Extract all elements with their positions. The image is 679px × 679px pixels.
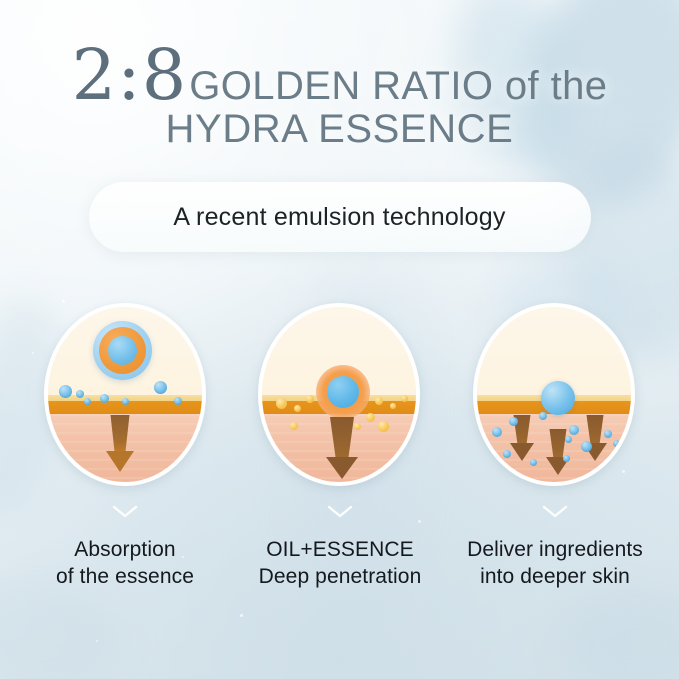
caption-line-1: Deliver ingredients <box>445 536 665 563</box>
ingredient-particle <box>565 436 572 443</box>
illustration-panel-absorption <box>44 303 206 486</box>
arrow-head <box>510 443 534 461</box>
ingredient-particle <box>563 455 570 462</box>
arrow-shaft <box>587 415 604 445</box>
oil-particle <box>276 398 287 409</box>
caption-oil-essence: OIL+ESSENCE Deep penetration <box>230 505 450 591</box>
oil-particle <box>378 421 389 432</box>
oil-essence-droplet <box>316 365 370 419</box>
background-blur-shape <box>0 579 120 679</box>
oil-particle <box>375 397 383 405</box>
caption-line-1: Absorption <box>15 536 235 563</box>
golden-ratio-number: 2:8 <box>72 42 188 109</box>
emulsion-capsule <box>93 321 152 380</box>
illustration-panel-deliver <box>473 303 635 486</box>
essence-droplet <box>154 381 167 394</box>
headline-line-1: 2:8 GOLDEN RATIO of the <box>0 42 679 109</box>
ingredient-droplet <box>541 381 575 415</box>
essence-droplet <box>100 394 109 403</box>
poster-canvas: 2:8 GOLDEN RATIO of the HYDRA ESSENCE A … <box>0 0 679 679</box>
caption-line-2: into deeper skin <box>445 563 665 590</box>
ingredient-particle <box>613 440 620 447</box>
headline-line-1-text: GOLDEN RATIO of the <box>189 64 607 109</box>
ingredient-particle <box>569 425 579 435</box>
penetration-arrow <box>100 415 140 472</box>
droplet-core <box>327 376 359 408</box>
arrow-head <box>106 451 134 472</box>
essence-droplet <box>84 398 91 405</box>
essence-droplet <box>174 397 182 405</box>
caption-absorption: Absorption of the essence <box>15 505 235 591</box>
oil-particle <box>401 395 408 402</box>
background-blur-shape <box>559 587 679 679</box>
caption-deliver: Deliver ingredients into deeper skin <box>445 505 665 591</box>
oil-particle <box>290 422 298 430</box>
ingredient-particle <box>539 412 547 420</box>
subtitle-pill: A recent emulsion technology <box>89 182 591 252</box>
chevron-down-icon <box>327 505 353 518</box>
caption-line-2: Deep penetration <box>230 563 450 590</box>
chevron-down-icon <box>112 505 138 518</box>
skin-cross-section-circle <box>44 303 206 486</box>
sparkle-dot <box>96 640 98 642</box>
ingredient-particle <box>509 417 518 426</box>
oil-particle <box>306 395 314 403</box>
oil-particle <box>294 405 301 412</box>
sparkle-dot <box>240 614 243 617</box>
ingredient-particle <box>492 427 502 437</box>
illustration-panel-oil-essence <box>258 303 420 486</box>
skin-cross-section-circle <box>473 303 635 486</box>
penetration-arrow <box>578 415 612 463</box>
arrow-head <box>326 457 358 479</box>
essence-droplet <box>122 398 129 405</box>
ingredient-particle <box>530 459 537 466</box>
ingredient-particle <box>581 441 592 452</box>
ingredient-particle <box>503 450 511 458</box>
arrow-shaft <box>330 417 354 459</box>
chevron-down-icon <box>542 505 568 518</box>
arrow-shaft <box>111 415 130 453</box>
capsule-water-core <box>108 336 137 365</box>
subtitle-text: A recent emulsion technology <box>173 203 505 232</box>
skin-cross-section-circle <box>258 303 420 486</box>
essence-droplet <box>59 385 72 398</box>
essence-droplet <box>76 390 84 398</box>
penetration-arrow <box>318 417 366 479</box>
oil-particle <box>390 403 396 409</box>
caption-line-2: of the essence <box>15 563 235 590</box>
ingredient-particle <box>604 430 612 438</box>
illustration-row <box>0 303 679 493</box>
headline: 2:8 GOLDEN RATIO of the HYDRA ESSENCE <box>0 42 679 152</box>
oil-particle <box>366 413 375 422</box>
caption-line-1: OIL+ESSENCE <box>230 536 450 563</box>
